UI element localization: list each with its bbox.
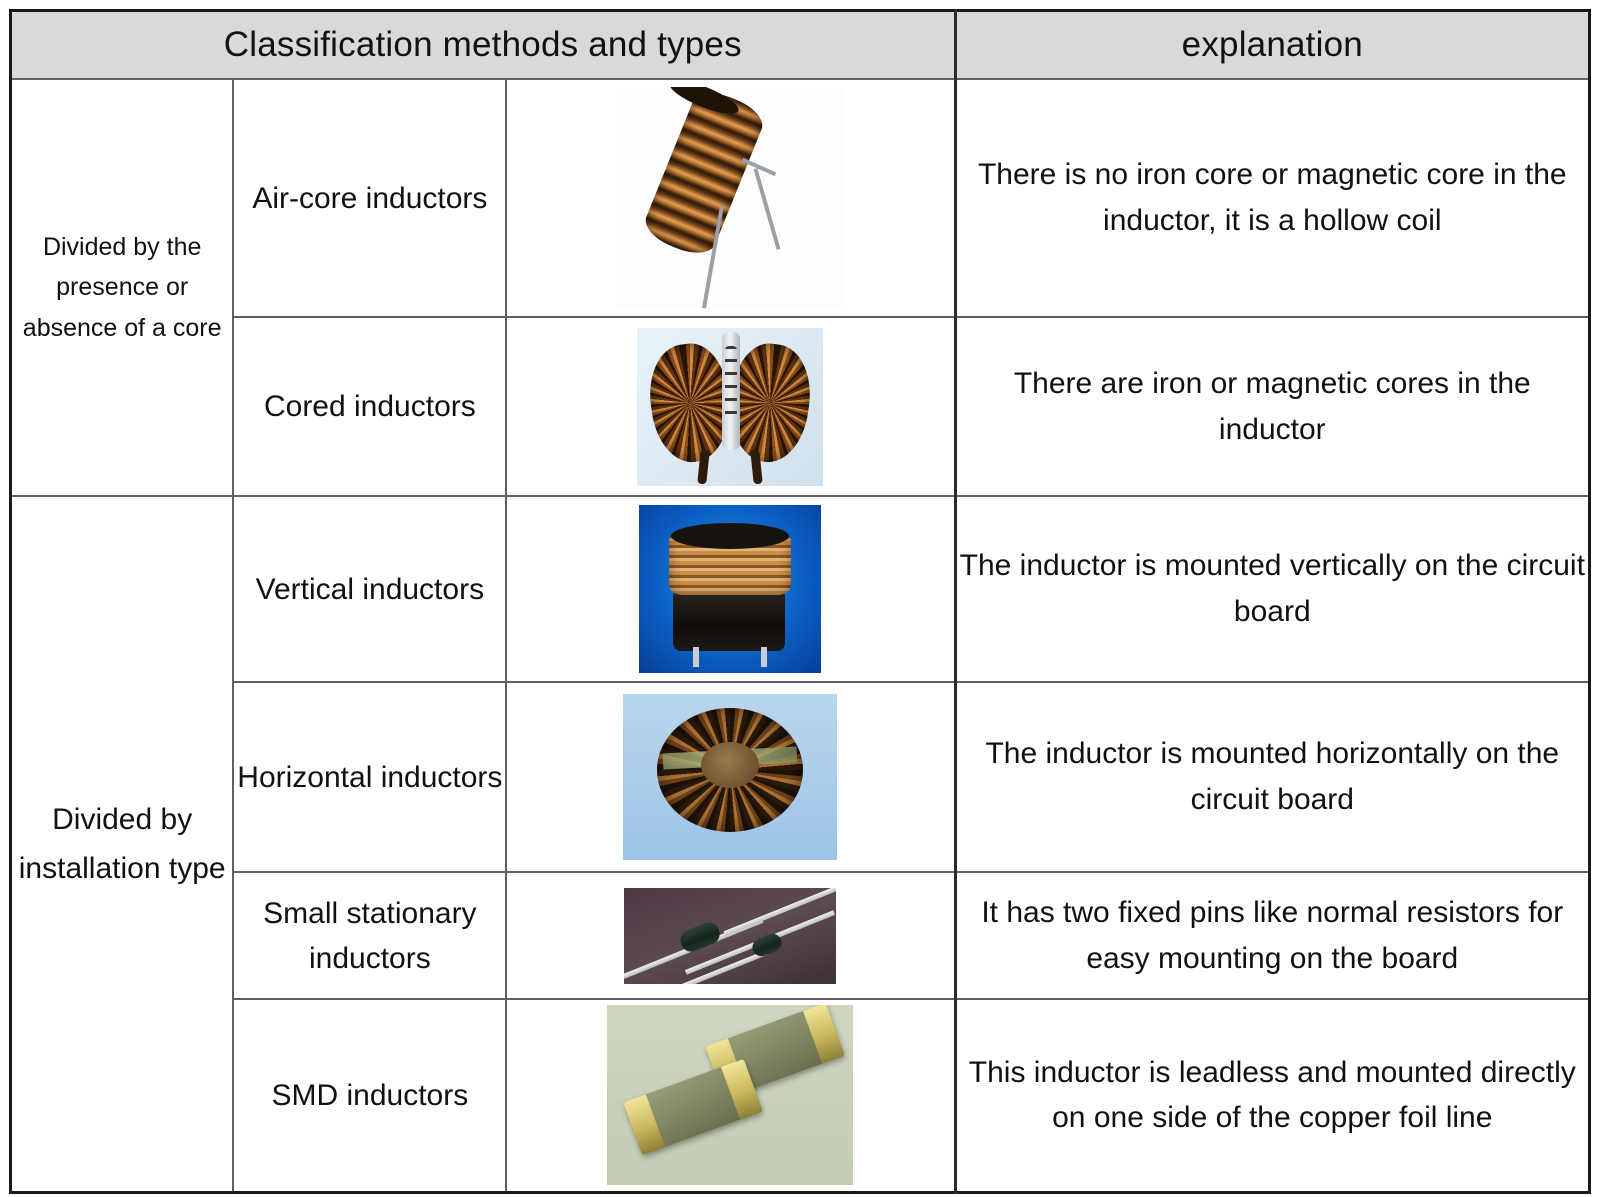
header-explanation: explanation	[955, 11, 1589, 80]
vertical-drum-inductor-photo	[639, 505, 821, 673]
image-cell-smd-inductors	[506, 999, 955, 1192]
air-core-coil-photo	[615, 87, 845, 309]
type-small-stationary-inductors: Small stationary inductors	[233, 872, 506, 999]
explanation-cored-inductors: There are iron or magnetic cores in the …	[955, 317, 1589, 496]
toroidal-cored-inductor-photo	[637, 328, 823, 486]
explanation-smd-inductors: This inductor is leadless and mounted di…	[955, 999, 1589, 1192]
inductor-classification-table: Classification methods and types explana…	[9, 9, 1591, 1194]
image-cell-small-stationary-inductors	[506, 872, 955, 999]
table-row-vertical-inductors: Divided by installation type Vertical in…	[11, 496, 1590, 682]
table-row-cored-inductors: Cored inductors There are iron or magnet…	[11, 317, 1590, 496]
explanation-horizontal-inductors: The inductor is mounted horizontally on …	[955, 682, 1589, 872]
table-row-smd-inductors: SMD inductors This inductor is leadless …	[11, 999, 1590, 1192]
type-vertical-inductors: Vertical inductors	[233, 496, 506, 682]
horizontal-toroid-inductor-photo	[623, 694, 837, 860]
table-row-air-core-inductors: Divided by the presence or absence of a …	[11, 79, 1590, 317]
image-cell-horizontal-inductors	[506, 682, 955, 872]
header-classification-methods-and-types: Classification methods and types	[11, 11, 956, 80]
smd-chip-inductor-photo	[607, 1005, 853, 1185]
image-cell-cored-inductors	[506, 317, 955, 496]
table-row-small-stationary-inductors: Small stationary inductors It has two fi…	[11, 872, 1590, 999]
explanation-vertical-inductors: The inductor is mounted vertically on th…	[955, 496, 1589, 682]
table-row-horizontal-inductors: Horizontal inductors The inductor is mou…	[11, 682, 1590, 872]
axial-lead-inductor-photo	[624, 888, 836, 984]
type-smd-inductors: SMD inductors	[233, 999, 506, 1192]
category-divided-by-installation-type: Divided by installation type	[11, 496, 234, 1192]
type-cored-inductors: Cored inductors	[233, 317, 506, 496]
explanation-small-stationary-inductors: It has two fixed pins like normal resist…	[955, 872, 1589, 999]
inductor-classification-table-page: Classification methods and types explana…	[0, 0, 1600, 1197]
type-air-core-inductors: Air-core inductors	[233, 79, 506, 317]
explanation-air-core-inductors: There is no iron core or magnetic core i…	[955, 79, 1589, 317]
table-header-row: Classification methods and types explana…	[11, 11, 1590, 80]
type-horizontal-inductors: Horizontal inductors	[233, 682, 506, 872]
image-cell-air-core-inductors	[506, 79, 955, 317]
category-divided-by-core-presence: Divided by the presence or absence of a …	[11, 79, 234, 496]
image-cell-vertical-inductors	[506, 496, 955, 682]
